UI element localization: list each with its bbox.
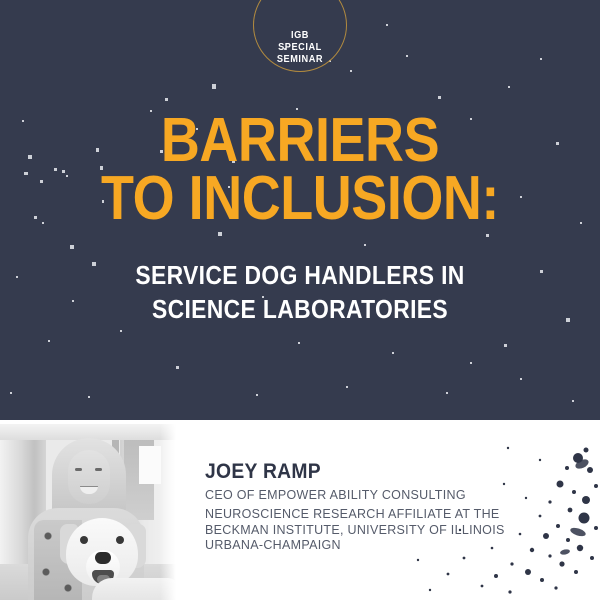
title-line-1: BARRIERS — [39, 112, 561, 170]
badge-line-1: IGB — [24, 30, 576, 42]
seminar-badge-text: IGB SPECIAL SEMINAR — [24, 30, 576, 66]
speaker-affiliation: NEUROSCIENCE RESEARCH AFFILIATE AT THE B… — [205, 507, 565, 554]
subtitle-line-1: SERVICE DOG HANDLERS IN — [36, 258, 564, 292]
hero-panel: IGB SPECIAL SEMINAR BARRIERS TO INCLUSIO… — [0, 0, 600, 420]
affiliation-line-1: NEUROSCIENCE RESEARCH AFFILIATE AT THE — [205, 507, 565, 523]
poster-title: BARRIERS TO INCLUSION: — [0, 112, 600, 228]
affiliation-line-2: BECKMAN INSTITUTE, UNIVERSITY OF ILLINOI… — [205, 523, 565, 539]
subtitle-line-2: SCIENCE LABORATORIES — [36, 292, 564, 326]
title-line-2: TO INCLUSION: — [39, 170, 561, 228]
seminar-poster: IGB SPECIAL SEMINAR BARRIERS TO INCLUSIO… — [0, 0, 600, 600]
speaker-role: CEO OF EMPOWER ABILITY CONSULTING — [205, 487, 565, 504]
speaker-details: JOEY RAMP CEO OF EMPOWER ABILITY CONSULT… — [205, 460, 565, 554]
affiliation-line-3: URBANA-CHAMPAIGN — [205, 538, 565, 554]
badge-line-3: SEMINAR — [24, 54, 576, 66]
speaker-panel: JOEY RAMP CEO OF EMPOWER ABILITY CONSULT… — [0, 420, 600, 600]
badge-line-2: SPECIAL — [24, 42, 576, 54]
speaker-name: JOEY RAMP — [205, 460, 536, 484]
speaker-photo — [0, 424, 178, 600]
poster-subtitle: SERVICE DOG HANDLERS IN SCIENCE LABORATO… — [0, 258, 600, 326]
